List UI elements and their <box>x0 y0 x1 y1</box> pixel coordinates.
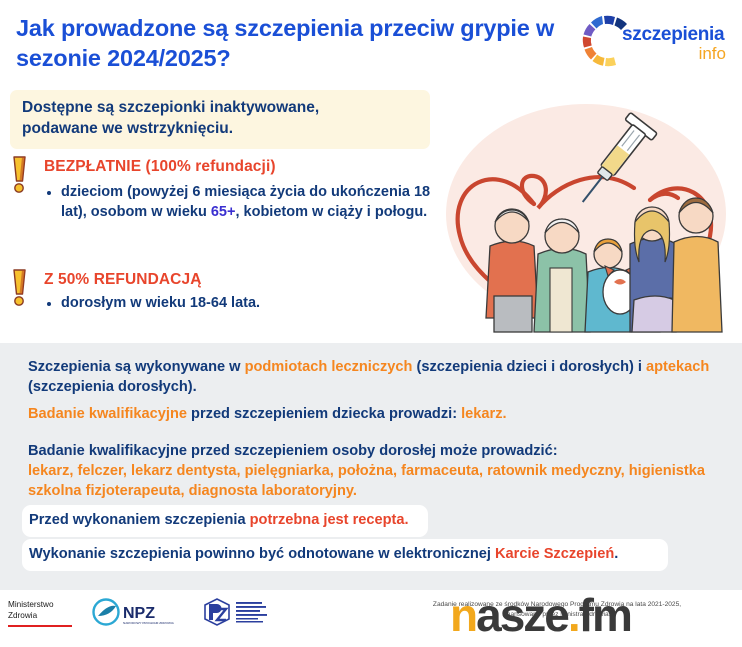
list-item: dorosłym w wieku 18-64 lata. <box>44 294 444 314</box>
paragraph-vaccination-card: Wykonanie szczepienia powinno być odnoto… <box>22 539 668 571</box>
p1-text-1: Szczepienia są wykonywane w <box>28 359 245 375</box>
p1-highlight-facilities: podmiotach leczniczych <box>245 359 413 375</box>
bullet-text-part1: dorosłym w wieku 18-64 lata. <box>61 295 260 311</box>
half-refund-bullet-list: dorosłym w wieku 18-64 lata. <box>44 294 444 314</box>
logo-name-sub: info <box>622 44 742 64</box>
list-item: dzieciom (powyżej 6 miesiąca życia do uk… <box>44 183 444 222</box>
p3-text-1: Badanie kwalifikacyjne przed szczepienie… <box>28 443 558 459</box>
watermark-part-2: asze <box>476 589 568 641</box>
watermark-part-3: fm <box>579 589 631 641</box>
p1-text-2: (szczepienia dzieci i dorosłych) i <box>412 359 646 375</box>
p3-highlight-professionals: lekarz, felczer, lekarz dentysta, pielęg… <box>28 463 705 499</box>
information-section: Szczepienia są wykonywane w podmiotach l… <box>0 343 742 590</box>
logo-wordmark: szczepienia info <box>622 25 742 64</box>
callout-line-2: podawane we wstrzyknięciu. <box>22 119 418 140</box>
logo-name-main: szczepienia <box>622 25 742 44</box>
exclamation-mark-icon <box>10 155 32 195</box>
paragraph-adult-qualification: Badanie kwalifikacyjne przed szczepienie… <box>28 441 718 501</box>
p1-text-3: (szczepienia dorosłych). <box>28 379 197 395</box>
half-refund-heading: Z 50% REFUNDACJĄ <box>44 271 202 289</box>
page-title: Jak prowadzone są szczepienia przeciw gr… <box>16 14 576 74</box>
watermark-part-1: n <box>450 589 476 641</box>
nasze-fm-watermark: nasze.fm <box>450 592 631 638</box>
paragraph-child-qualification: Badanie kwalifikacyjne przed szczepienie… <box>28 404 718 424</box>
svg-text:NARODOWY PROGRAM ZDROWIA: NARODOWY PROGRAM ZDROWIA <box>123 621 175 625</box>
free-heading: BEZPŁATNIE (100% refundacji) <box>44 158 276 176</box>
p2-highlight-doctor: lekarz. <box>461 406 506 422</box>
callout-line-1: Dostępne są szczepionki inaktywowane, <box>22 98 418 119</box>
p4-text-1: Przed wykonaniem szczepienia <box>29 512 250 528</box>
npz-logo: NPZ NARODOWY PROGRAM ZDROWIA <box>92 598 184 628</box>
p4-highlight-prescription: potrzebna jest recepta. <box>250 512 409 528</box>
p5-text-2: . <box>614 546 618 562</box>
szczepienia-info-logo[interactable]: szczepienia info <box>578 8 738 80</box>
p2-text-1: przed szczepieniem dziecka prowadzi: <box>187 406 461 422</box>
p5-text-1: Wykonanie szczepienia powinno być odnoto… <box>29 546 495 562</box>
exclamation-mark-icon <box>10 268 32 308</box>
infographic-page: Jak prowadzone są szczepienia przeciw gr… <box>0 0 742 647</box>
bullet-accent: 65+ <box>211 204 236 220</box>
svg-text:NPZ: NPZ <box>123 605 155 622</box>
paragraph-prescription: Przed wykonaniem szczepienia potrzebna j… <box>22 505 428 537</box>
pzh-logo <box>200 597 292 629</box>
vaccine-type-callout: Dostępne są szczepionki inaktywowane, po… <box>10 90 430 149</box>
top-section: Jak prowadzone są szczepienia przeciw gr… <box>0 0 742 343</box>
p2-highlight-exam: Badanie kwalifikacyjne <box>28 406 187 422</box>
paragraph-where-vaccinated: Szczepienia są wykonywane w podmiotach l… <box>28 357 718 397</box>
ministry-red-bar <box>8 625 72 627</box>
p5-highlight-card: Karcie Szczepień <box>495 546 614 562</box>
family-heart-syringe-illustration <box>438 96 738 339</box>
p1-highlight-pharmacies: aptekach <box>646 359 709 375</box>
watermark-dot: . <box>568 589 579 641</box>
ministry-of-health-logo: Ministerstwo Zdrowia <box>8 600 88 627</box>
ministry-line-2: Zdrowia <box>8 611 88 622</box>
bullet-text-part2: , kobietom w ciąży i połogu. <box>235 204 427 220</box>
free-bullet-list: dzieciom (powyżej 6 miesiąca życia do uk… <box>44 183 444 222</box>
ministry-line-1: Ministerstwo <box>8 600 88 611</box>
